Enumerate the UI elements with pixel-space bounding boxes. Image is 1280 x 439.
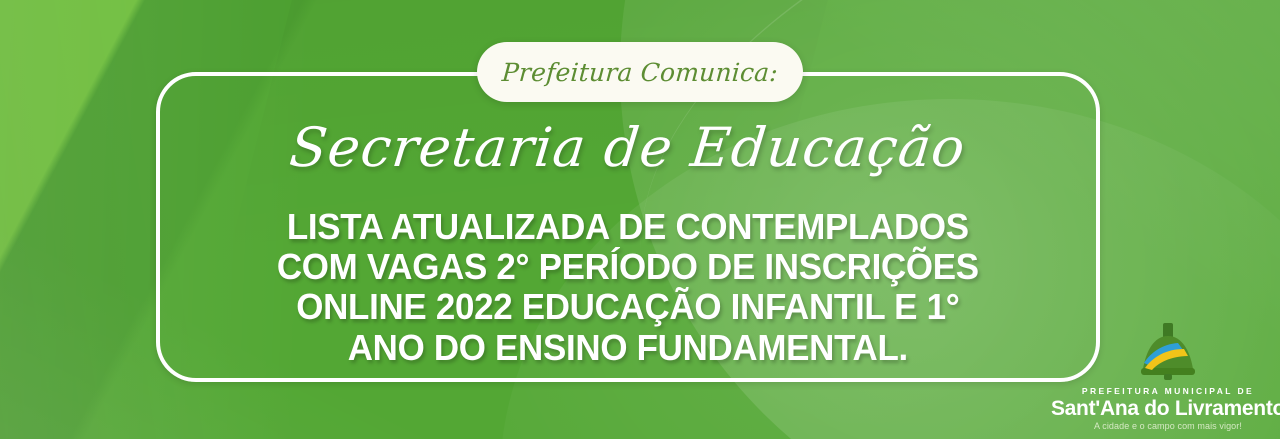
headline-line-4: ANO DO ENSINO FUNDAMENTAL.: [277, 328, 979, 368]
banner-content: Secretaria de Educação LISTA ATUALIZADA …: [156, 72, 1100, 382]
prefeitura-comunica-badge: Prefeitura Comunica:: [477, 42, 803, 102]
education-announcement-banner: Prefeitura Comunica: Secretaria de Educa…: [0, 0, 1280, 439]
badge-label: Prefeitura Comunica:: [501, 58, 779, 87]
headline-line-1: LISTA ATUALIZADA DE CONTEMPLADOS: [277, 207, 979, 247]
bell-icon: [1131, 323, 1205, 385]
announcement-headline: LISTA ATUALIZADA DE CONTEMPLADOS COM VAG…: [277, 207, 979, 368]
department-title: Secretaria de Educação: [287, 120, 968, 177]
headline-line-2: COM VAGAS 2° PERÍODO DE INSCRIÇÕES: [277, 247, 979, 287]
logo-kicker-text: PREFEITURA MUNICIPAL DE: [1082, 387, 1254, 396]
logo-tagline: A cidade e o campo com mais vigor!: [1094, 422, 1242, 431]
logo-municipality-name: Sant'Ana do Livramento: [1051, 398, 1280, 419]
municipal-logo: PREFEITURA MUNICIPAL DE Sant'Ana do Livr…: [1074, 309, 1262, 431]
headline-line-3: ONLINE 2022 EDUCAÇÃO INFANTIL E 1°: [277, 287, 979, 327]
